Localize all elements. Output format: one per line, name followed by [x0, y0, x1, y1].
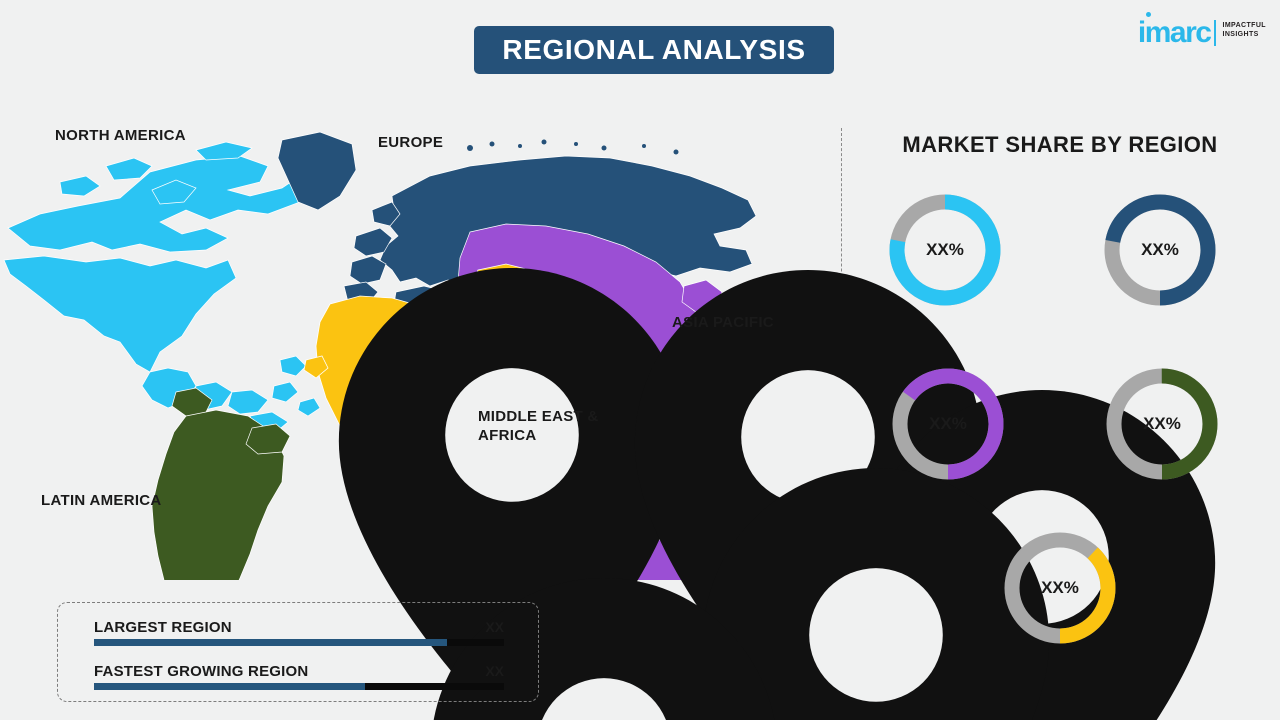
donut-value-label: XX%	[1104, 194, 1216, 306]
legend-progress-track	[94, 683, 504, 690]
logo-wordmark: imarc	[1138, 18, 1211, 48]
donut-value-label: XX%	[892, 368, 1004, 480]
logo-dot-icon	[1146, 12, 1151, 17]
legend-progress-fill	[94, 683, 365, 690]
legend-label: FASTEST GROWING REGION	[94, 663, 308, 680]
map-label-europe: EUROPE	[378, 133, 443, 152]
map-label-asia-pacific: ASIA PACIFIC	[672, 313, 774, 332]
legend-row-largest-region: LARGEST REGION XX	[94, 619, 504, 646]
map-islands-north	[467, 140, 679, 155]
legend-value: XX	[485, 663, 504, 679]
map-label-latin-america: LATIN AMERICA	[41, 491, 162, 510]
legend-row-fastest-growing-region: FASTEST GROWING REGION XX	[94, 663, 504, 690]
legend-value: XX	[485, 619, 504, 635]
donut-chart-europe: XX%	[1104, 194, 1216, 306]
legend-label: LARGEST REGION	[94, 619, 232, 636]
imarc-logo: imarc IMPACTFUL INSIGHTS	[1138, 18, 1266, 48]
page-title: REGIONAL ANALYSIS	[502, 34, 805, 66]
region-legend-box: LARGEST REGION XX FASTEST GROWING REGION…	[57, 602, 539, 702]
map-label-north-america: NORTH AMERICA	[55, 126, 186, 145]
donut-value-label: XX%	[1004, 532, 1116, 644]
map-label-middle-east-africa: MIDDLE EAST & AFRICA	[478, 407, 638, 445]
logo-tagline: IMPACTFUL INSIGHTS	[1222, 18, 1266, 39]
legend-progress-track	[94, 639, 504, 646]
donut-chart-middle-east-africa: XX%	[1004, 532, 1116, 644]
infographic-canvas: REGIONAL ANALYSIS imarc IMPACTFUL INSIGH…	[0, 0, 1280, 720]
logo-tagline-line2: INSIGHTS	[1222, 30, 1266, 39]
logo-tagline-line1: IMPACTFUL	[1222, 21, 1266, 30]
market-share-panel-title: MARKET SHARE BY REGION	[880, 132, 1240, 158]
donut-value-label: XX%	[1106, 368, 1218, 480]
donut-chart-latin-america: XX%	[1106, 368, 1218, 480]
legend-progress-fill	[94, 639, 447, 646]
donut-chart-asia-pacific: XX%	[892, 368, 1004, 480]
donut-value-label: XX%	[889, 194, 1001, 306]
donut-chart-north-america: XX%	[889, 194, 1001, 306]
logo-divider	[1214, 20, 1216, 46]
page-title-banner: REGIONAL ANALYSIS	[474, 26, 834, 74]
